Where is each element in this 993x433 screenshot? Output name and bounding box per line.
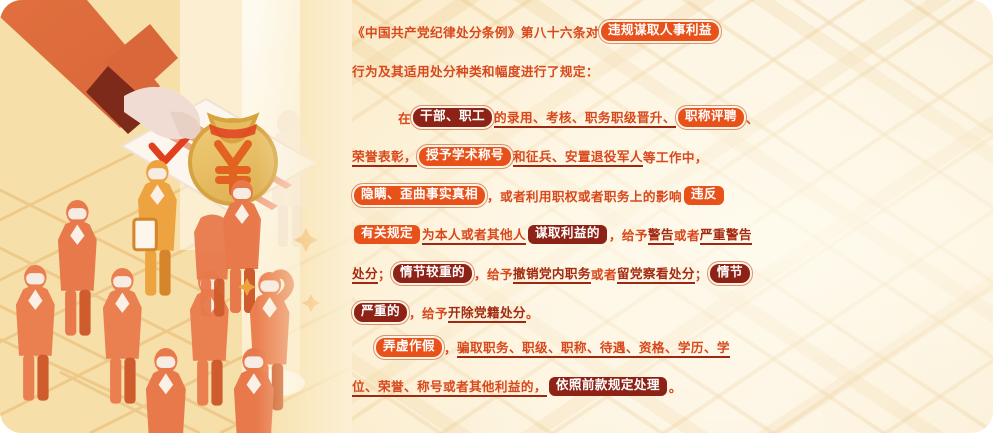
paragraph-clause-two: 弄虚作假，骗取职务、职级、职称、待遇、资格、学历、学位、荣誉、称号或者其他利益的… bbox=[352, 328, 993, 406]
body-text: ，或者利用职权或者职务上的影响 bbox=[487, 186, 682, 205]
underlined-text: 位、荣誉、称号或者其他利益的， bbox=[352, 376, 547, 397]
underlined-text: 荣誉表彰， bbox=[352, 146, 417, 167]
highlight-badge-orange[interactable]: 隐瞒、歪曲事实真相 bbox=[354, 186, 485, 204]
body-text: ，给予 bbox=[409, 303, 448, 322]
body-text: ，给予 bbox=[609, 225, 648, 244]
text-line: 在干部、职工的录用、考核、职务职级晋升、职称评聘、 bbox=[352, 98, 993, 137]
text-line: 处分；情节较重的，给予撤销党内职务或者留党察看处分；情节 bbox=[352, 254, 993, 293]
body-text: 在 bbox=[398, 108, 411, 127]
penalty-term: 警告 bbox=[648, 224, 674, 245]
body-text: 《中国共产党纪律处分条例》第八十六条对 bbox=[352, 22, 599, 41]
text-line: 《中国共产党纪律处分条例》第八十六条对违规谋取人事利益 bbox=[352, 12, 993, 51]
highlight-badge-orange[interactable]: 违规谋取人事利益 bbox=[601, 22, 719, 40]
highlight-badge-dark-red[interactable]: 谋取利益的 bbox=[528, 225, 607, 243]
body-text: 等工作中， bbox=[643, 147, 708, 166]
highlight-badge-orange[interactable]: 违反 bbox=[684, 186, 724, 204]
penalty-term: 撤销党内职务 bbox=[513, 263, 591, 284]
highlight-badge-dark-red[interactable]: 情节较重的 bbox=[393, 264, 472, 282]
highlight-badge-dark-red[interactable]: 情节 bbox=[710, 264, 750, 282]
underlined-text: 骗取职务、职级、职称、待遇、资格、学历、学 bbox=[457, 337, 730, 358]
penalty-term: 处分 bbox=[352, 263, 378, 284]
highlight-badge-orange[interactable]: 弄虚作假 bbox=[376, 338, 442, 356]
body-text: 。 bbox=[669, 377, 682, 396]
body-text: ，给予 bbox=[474, 264, 513, 283]
body-text: 或者 bbox=[591, 264, 617, 283]
paragraph-intro: 《中国共产党纪律处分条例》第八十六条对违规谋取人事利益行为及其适用处分种类和幅度… bbox=[352, 12, 993, 90]
regulation-text-block: 《中国共产党纪律处分条例》第八十六条对违规谋取人事利益行为及其适用处分种类和幅度… bbox=[352, 0, 993, 433]
penalty-term: 留党察看处分 bbox=[617, 263, 695, 284]
highlight-badge-dark-red[interactable]: 干部、职工 bbox=[413, 108, 492, 126]
infographic-card: 《中国共产党纪律处分条例》第八十六条对违规谋取人事利益行为及其适用处分种类和幅度… bbox=[0, 0, 993, 433]
underlined-text: 和征兵、安置退役军人 bbox=[513, 146, 643, 167]
text-line: 行为及其适用处分种类和幅度进行了规定： bbox=[352, 51, 993, 90]
body-text: 。 bbox=[526, 303, 539, 322]
body-text: ； bbox=[695, 264, 708, 283]
body-text: 、 bbox=[746, 108, 759, 127]
penalty-term: 开除党籍处分 bbox=[448, 302, 526, 323]
body-text: 行为及其适用处分种类和幅度进行了规定： bbox=[352, 61, 599, 80]
underlined-text: 为本人或者其他人 bbox=[422, 224, 526, 245]
highlight-badge-orange[interactable]: 授予学术称号 bbox=[419, 147, 511, 165]
highlight-badge-dark-red[interactable]: 严重的 bbox=[354, 303, 407, 321]
highlight-badge-dark-red[interactable]: 依照前款规定处理 bbox=[549, 377, 667, 395]
body-text: ， bbox=[444, 338, 457, 357]
paragraph-clause-one: 在干部、职工的录用、考核、职务职级晋升、职称评聘、荣誉表彰，授予学术称号和征兵、… bbox=[352, 98, 993, 332]
body-text: 或者 bbox=[674, 225, 700, 244]
penalty-term: 严重警告 bbox=[700, 224, 752, 245]
text-line: 隐瞒、歪曲事实真相，或者利用职权或者职务上的影响违反 bbox=[352, 176, 993, 215]
text-line: 严重的，给予开除党籍处分。 bbox=[352, 293, 993, 332]
text-line: 位、荣誉、称号或者其他利益的，依照前款规定处理。 bbox=[352, 367, 993, 406]
body-text: ； bbox=[378, 264, 391, 283]
illustration-hand-offering-bribe bbox=[0, 0, 352, 433]
text-line: 荣誉表彰，授予学术称号和征兵、安置退役军人等工作中， bbox=[352, 137, 993, 176]
underlined-text: 的录用、考核、职务职级晋升、 bbox=[494, 107, 676, 128]
highlight-badge-orange[interactable]: 职称评聘 bbox=[678, 108, 744, 126]
highlight-badge-orange[interactable]: 有关规定 bbox=[354, 225, 420, 243]
text-line: 弄虚作假，骗取职务、职级、职称、待遇、资格、学历、学 bbox=[352, 328, 993, 367]
text-line: 有关规定为本人或者其他人谋取利益的，给予警告或者严重警告 bbox=[352, 215, 993, 254]
